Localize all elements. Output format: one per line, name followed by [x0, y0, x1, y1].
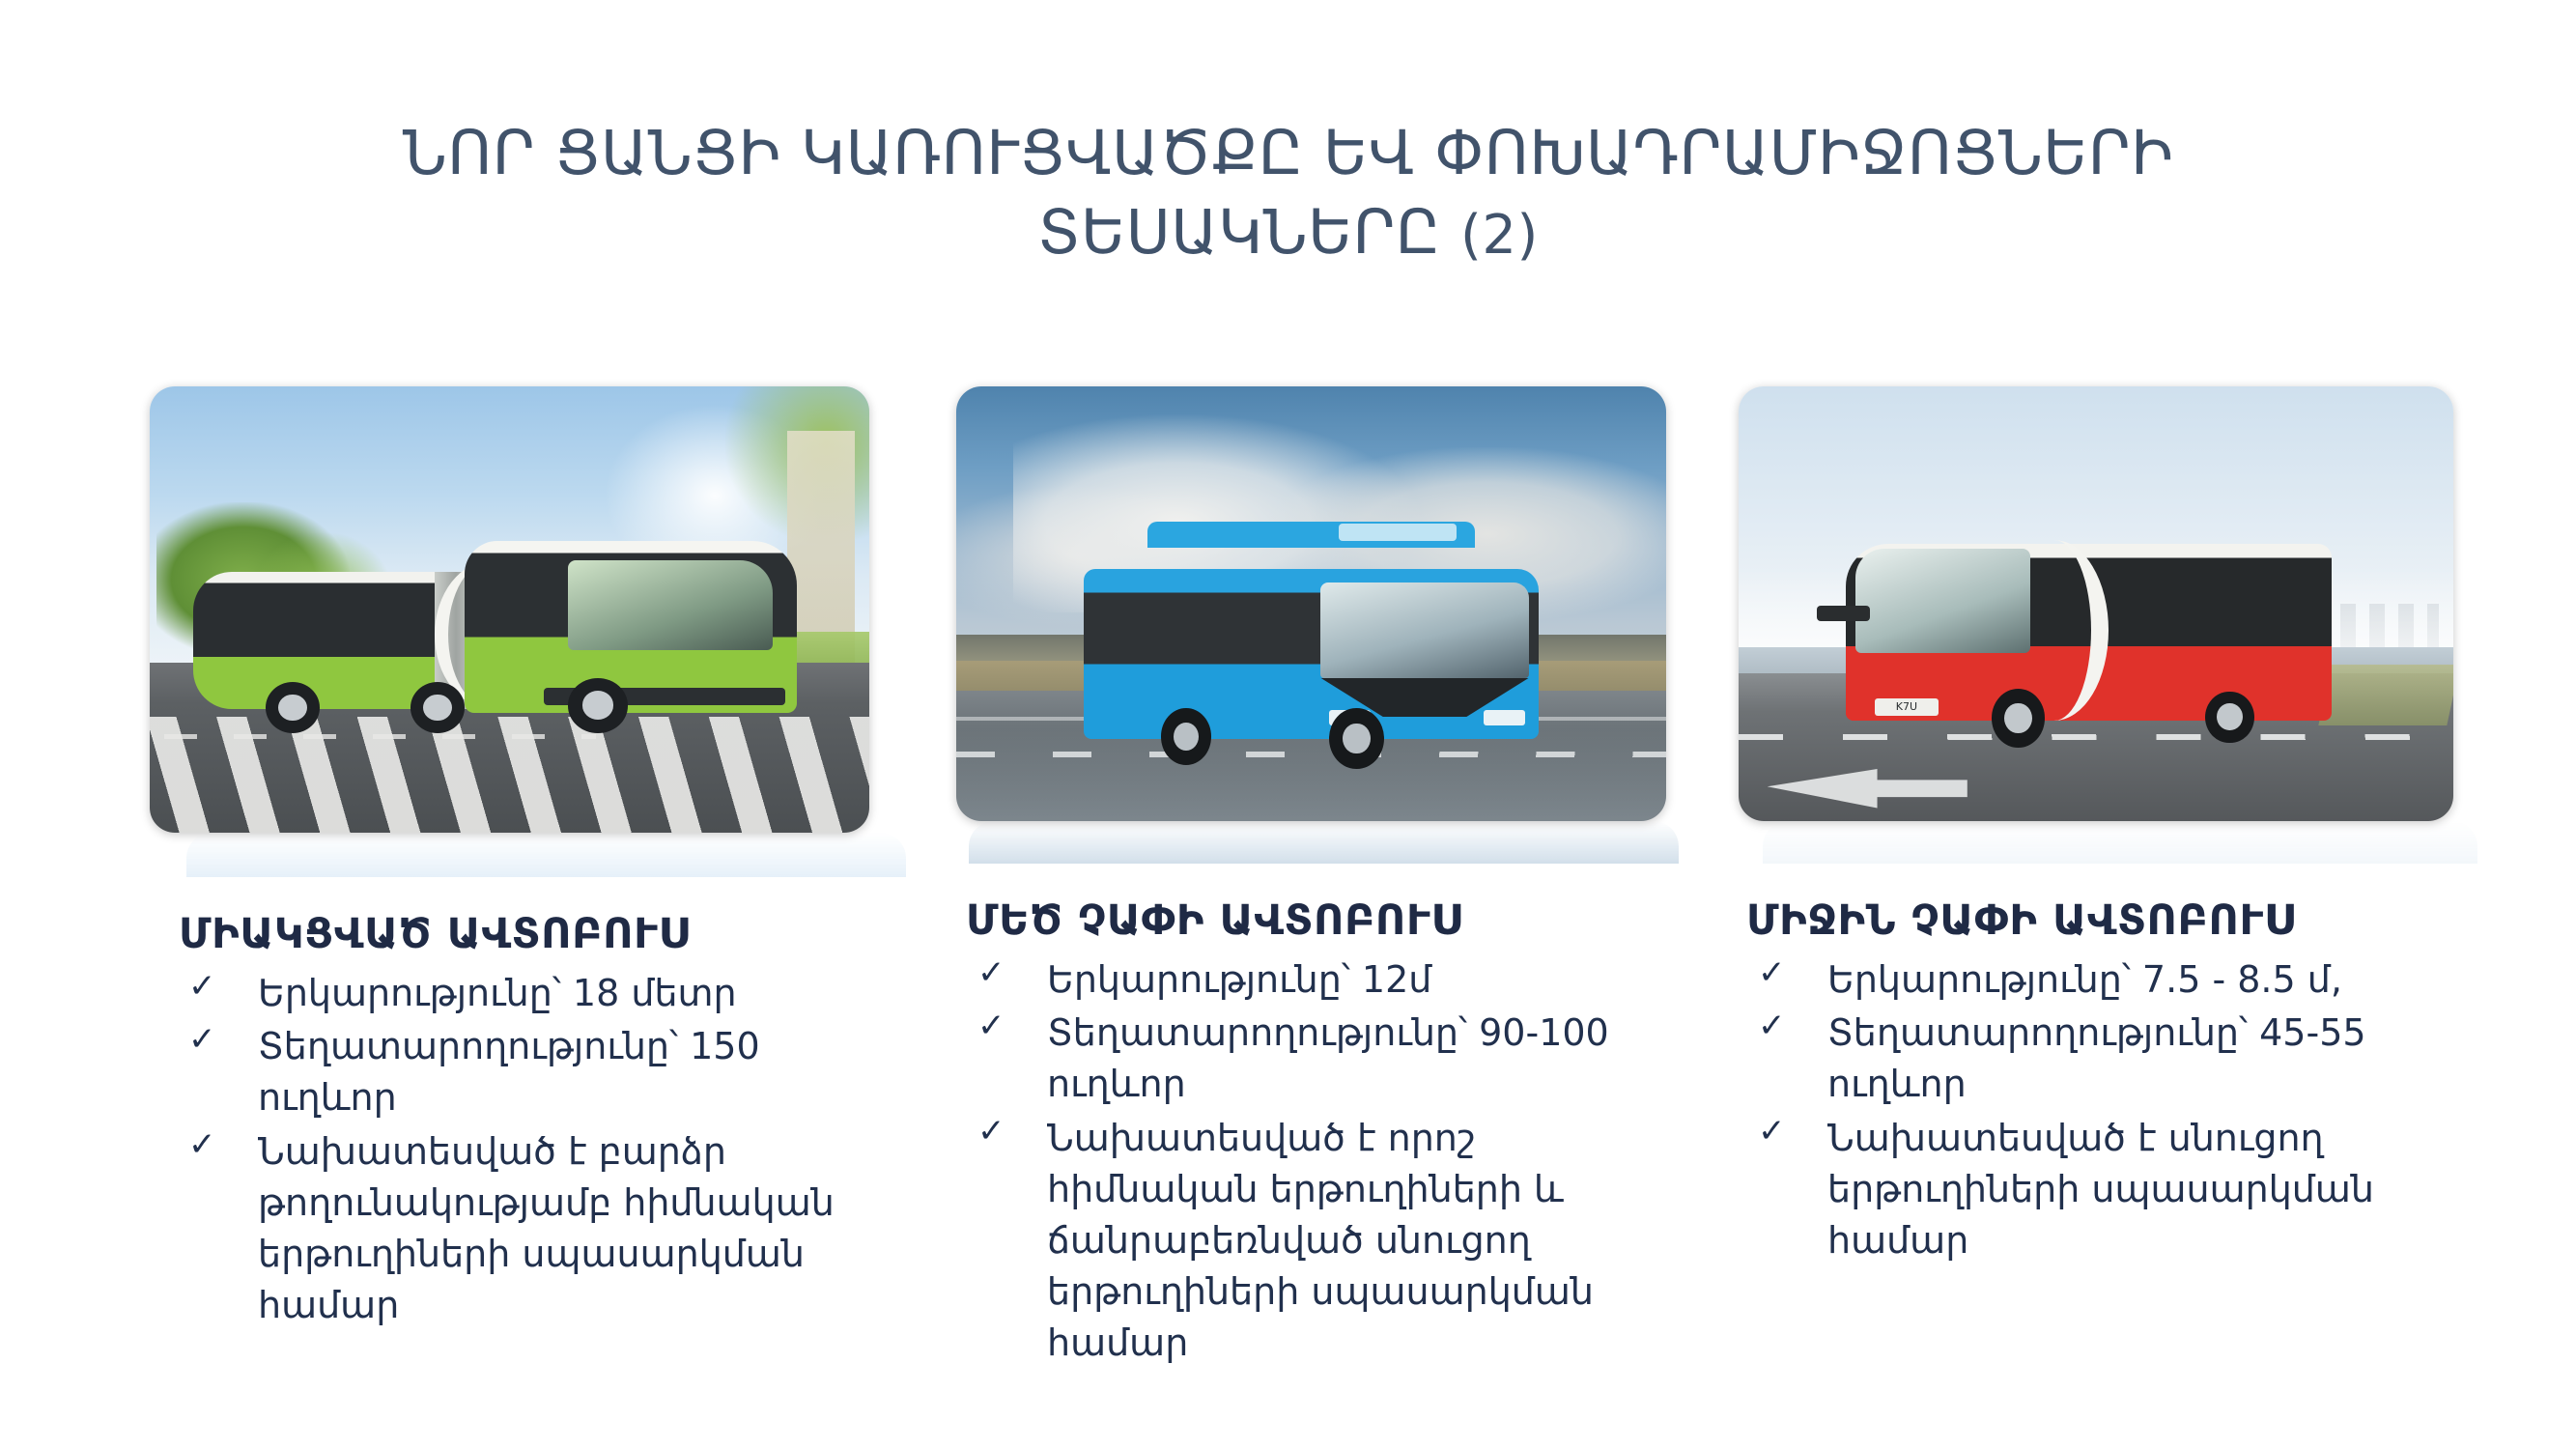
list-item-label: Նախատեսված է սնուցող երթուղիների սպասարկ… — [1827, 1117, 2374, 1262]
list-item-label: Երկարությունը՝ 12մ — [1047, 958, 1431, 1001]
bus-type-card-large: ՄԵԾ ՉԱՓԻ ԱՎՏՈԲՈՒՍ ✓ Երկարությունը՝ 12մ ✓… — [956, 386, 1690, 1372]
check-icon: ✓ — [977, 956, 1010, 989]
list-item-label: Երկարությունը՝ 18 մետր — [258, 972, 737, 1014]
title-line-2: ՏԵՍԱԿՆԵՐԸ (2) — [0, 193, 2576, 272]
bus-type-heading-medium: ՄԻՋԻՆ ՉԱՓԻ ԱՎՏՈԲՈՒՍ — [1746, 896, 2502, 945]
scene-hazy-waterfront: K7U — [1739, 386, 2453, 821]
medium-bus-photo-reflection — [1763, 821, 2477, 864]
list-item-label: Տեղատարողությունը՝ 45-55 ուղևոր — [1827, 1011, 2366, 1105]
list-item-label: Տեղատարողությունը՝ 150 ուղևոր — [258, 1025, 760, 1119]
list-item-label: Նախատեսված է որոշ հիմնական երթուղիների և… — [1047, 1117, 1594, 1365]
scene-sunny-city-crosswalk — [150, 386, 869, 833]
list-item: ✓ Երկարությունը՝ 18 մետր — [177, 968, 892, 1019]
title-line-1: ՆՈՐ ՑԱՆՑԻ ԿԱՌՈՒՑՎԱԾՔԸ ԵՎ ՓՈԽԱԴՐԱՄԻՋՈՑՆԵՐ… — [0, 114, 2576, 193]
list-item: ✓ Նախատեսված է որոշ հիմնական երթուղիների… — [966, 1113, 1671, 1370]
bus-spec-list-articulated: ✓ Երկարությունը՝ 18 մետր ✓ Տեղատարողությ… — [177, 968, 892, 1331]
list-item: ✓ Տեղատարողությունը՝ 90-100 ուղևոր — [966, 1008, 1671, 1110]
license-plate: K7U — [1875, 698, 1938, 717]
list-item-label: Տեղատարողությունը՝ 90-100 ուղևոր — [1047, 1011, 1609, 1105]
check-icon: ✓ — [1758, 956, 1791, 989]
check-icon: ✓ — [188, 1128, 221, 1161]
large-bus-photo-wrap — [956, 386, 1690, 864]
bus-type-heading-large: ՄԵԾ ՉԱՓԻ ԱՎՏՈԲՈՒՍ — [966, 896, 1690, 945]
check-icon: ✓ — [188, 970, 221, 1003]
red-medium-bus: K7U — [1846, 508, 2332, 734]
check-icon: ✓ — [1758, 1115, 1791, 1148]
check-icon: ✓ — [977, 1009, 1010, 1042]
medium-bus-photo-wrap: K7U — [1739, 386, 2502, 864]
list-item-label: Նախատեսված է բարձր թողունակությամբ հիմնա… — [258, 1130, 835, 1327]
articulated-bus-photo — [150, 386, 869, 833]
check-icon: ✓ — [188, 1023, 221, 1056]
list-item: ✓ Նախատեսված է սնուցող երթուղիների սպասա… — [1746, 1113, 2480, 1267]
title-part-number: (2) — [1460, 204, 1539, 267]
large-bus-photo-reflection — [969, 821, 1679, 864]
bus-type-columns: ՄԻԱԿՑՎԱԾ ԱՎՏՈԲՈՒՍ ✓ Երկարությունը՝ 18 մե… — [0, 386, 2576, 1372]
scene-cloudy-highway — [956, 386, 1666, 821]
list-item: ✓ Տեղատարողությունը՝ 45-55 ուղևոր — [1746, 1008, 2480, 1110]
blue-city-bus — [1084, 534, 1538, 752]
bus-type-heading-articulated: ՄԻԱԿՑՎԱԾ ԱՎՏՈԲՈՒՍ — [179, 910, 942, 958]
articulated-bus-photo-reflection — [186, 833, 906, 877]
list-item: ✓ Նախատեսված է բարձր թողունակությամբ հիմ… — [177, 1126, 892, 1332]
bus-spec-list-medium: ✓ Երկարությունը՝ 7.5 - 8.5 մ, ✓ Տեղատարո… — [1746, 954, 2480, 1266]
medium-bus-photo: K7U — [1739, 386, 2453, 821]
list-item: ✓ Երկարությունը՝ 7.5 - 8.5 մ, — [1746, 954, 2480, 1006]
list-item-label: Երկարությունը՝ 7.5 - 8.5 մ, — [1827, 958, 2342, 1001]
bus-spec-list-large: ✓ Երկարությունը՝ 12մ ✓ Տեղատարողությունը… — [966, 954, 1671, 1370]
check-icon: ✓ — [977, 1115, 1010, 1148]
bus-type-card-medium: K7U ՄԻՋԻՆ ՉԱՓԻ ԱՎՏՈԲՈՒՍ — [1739, 386, 2502, 1268]
slide-root: ՆՈՐ ՑԱՆՑԻ ԿԱՌՈՒՑՎԱԾՔԸ ԵՎ ՓՈԽԱԴՐԱՄԻՋՈՑՆԵՐ… — [0, 0, 2576, 1449]
large-bus-photo — [956, 386, 1666, 821]
title-line-2-text: ՏԵՍԱԿՆԵՐԸ — [1037, 197, 1440, 268]
list-item: ✓ Երկարությունը՝ 12մ — [966, 954, 1671, 1006]
page-title: ՆՈՐ ՑԱՆՑԻ ԿԱՌՈՒՑՎԱԾՔԸ ԵՎ ՓՈԽԱԴՐԱՄԻՋՈՑՆԵՐ… — [0, 114, 2576, 272]
list-item: ✓ Տեղատարողությունը՝ 150 ուղևոր — [177, 1021, 892, 1123]
green-articulated-bus — [193, 525, 798, 721]
check-icon: ✓ — [1758, 1009, 1791, 1042]
articulated-bus-photo-wrap — [150, 386, 942, 877]
bus-type-card-articulated: ՄԻԱԿՑՎԱԾ ԱՎՏՈԲՈՒՍ ✓ Երկարությունը՝ 18 մե… — [150, 386, 942, 1333]
